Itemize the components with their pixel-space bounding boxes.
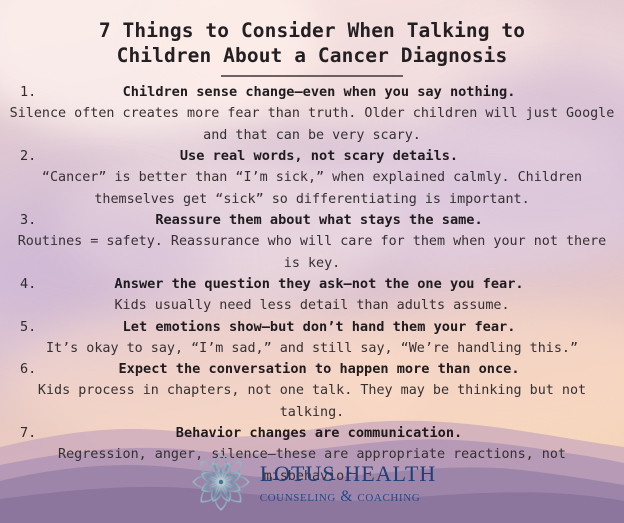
lotus-flower-icon: [188, 449, 254, 515]
list-item-heading: 7. Behavior changes are communication.: [0, 423, 624, 444]
page-title: 7 Things to Consider When Talking to Chi…: [0, 18, 624, 77]
list-item-body: Kids process in chapters, not one talk. …: [0, 380, 624, 423]
list-item-number: 4.: [20, 274, 36, 295]
list-item-heading: 5. Let emotions show—but don’t hand them…: [0, 317, 624, 338]
list-item-title: Reassure them about what stays the same.: [0, 210, 624, 231]
list-item-body: Routines = safety. Reassurance who will …: [0, 231, 624, 274]
brand-wordmark: Lotus Health Counseling & Coaching: [260, 455, 437, 508]
brand-tagline: Counseling & Coaching: [260, 489, 437, 504]
title-divider: [221, 75, 403, 77]
list-item: 4. Answer the question they ask—not the …: [0, 274, 624, 317]
list-item-body: It’s okay to say, “I’m sad,” and still s…: [0, 338, 624, 360]
title-line-1: 7 Things to Consider When Talking to: [0, 18, 624, 43]
list-item-title: Children sense change—even when you say …: [0, 82, 624, 103]
title-line-2: Children About a Cancer Diagnosis: [0, 43, 624, 68]
list-item-body: Kids usually need less detail than adult…: [0, 295, 624, 317]
brand-name: Lotus Health: [260, 455, 437, 486]
list-item: 1. Children sense change—even when you s…: [0, 82, 624, 146]
list-item-number: 5.: [20, 317, 36, 338]
list-item-number: 3.: [20, 210, 36, 231]
list-item-body: Silence often creates more fear than tru…: [0, 103, 624, 146]
list-item-number: 7.: [20, 423, 36, 444]
list-item-title: Let emotions show—but don’t hand them yo…: [0, 317, 624, 338]
list-item-number: 1.: [20, 82, 36, 103]
list-item-title: Use real words, not scary details.: [0, 146, 624, 167]
list-item-number: 2.: [20, 146, 36, 167]
list-item: 2. Use real words, not scary details. “C…: [0, 146, 624, 210]
list-item-heading: 4. Answer the question they ask—not the …: [0, 274, 624, 295]
list-item: 5. Let emotions show—but don’t hand them…: [0, 317, 624, 360]
list-item: 3. Reassure them about what stays the sa…: [0, 210, 624, 274]
list-item-title: Expect the conversation to happen more t…: [0, 359, 624, 380]
brand-logo: Lotus Health Counseling & Coaching: [0, 449, 624, 515]
list-item-heading: 3. Reassure them about what stays the sa…: [0, 210, 624, 231]
tips-list: 1. Children sense change—even when you s…: [0, 82, 624, 487]
list-item-title: Answer the question they ask—not the one…: [0, 274, 624, 295]
list-item-number: 6.: [20, 359, 36, 380]
list-item-body: “Cancer” is better than “I’m sick,” when…: [0, 167, 624, 210]
list-item-heading: 1. Children sense change—even when you s…: [0, 82, 624, 103]
list-item-heading: 2. Use real words, not scary details.: [0, 146, 624, 167]
infographic-card: 7 Things to Consider When Talking to Chi…: [0, 0, 624, 523]
list-item: 6. Expect the conversation to happen mor…: [0, 359, 624, 423]
list-item-title: Behavior changes are communication.: [0, 423, 624, 444]
list-item-heading: 6. Expect the conversation to happen mor…: [0, 359, 624, 380]
